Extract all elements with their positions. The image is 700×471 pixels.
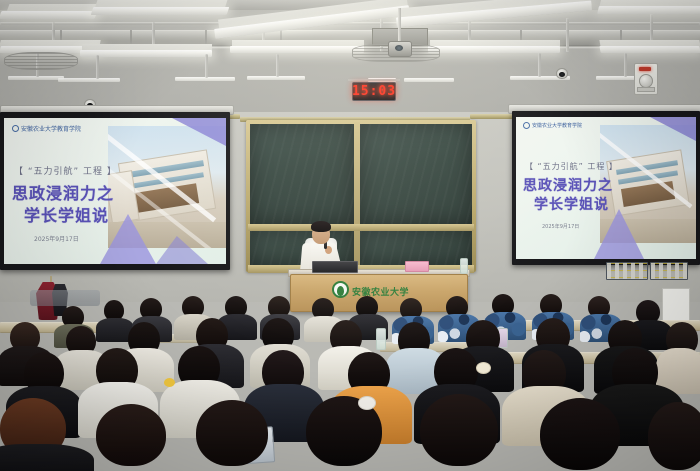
slide-title-line1: 思政浸润力之 <box>12 180 114 204</box>
ceiling-light-bar <box>404 78 454 82</box>
audience-head-foreground <box>420 394 498 466</box>
slide-date: 2025年9月17日 <box>542 223 579 230</box>
ceiling-light <box>597 6 700 14</box>
right-slide: 安徽农业大学教育学院 【 “五力引航” 工程 】 思政浸润力之 学长学姐说 20… <box>516 117 696 259</box>
slide-org-logo: 安徽农业大学教育学院 <box>12 124 81 133</box>
audience-head-foreground <box>648 402 700 470</box>
ceiling-light <box>599 46 700 53</box>
right-projection-screen[interactable]: 安徽农业大学教育学院 【 “五力引航” 工程 】 思政浸润力之 学长学姐说 20… <box>512 111 700 265</box>
ceiling-light <box>80 50 212 57</box>
electrical-switch-panel[interactable] <box>650 262 688 280</box>
chair-row <box>30 290 100 306</box>
control-panel-knob[interactable] <box>639 74 653 88</box>
ceiling-light <box>0 11 97 19</box>
left-projection-screen[interactable]: 安徽农业大学教育学院 【 “五力引航” 工程 】 思政浸润力之 学长学姐说 20… <box>0 112 230 270</box>
ceiling-pipe-hanger <box>566 18 569 52</box>
chalkboard-lower <box>360 231 472 265</box>
left-slide: 安徽农业大学教育学院 【 “五力引航” 工程 】 思政浸润力之 学长学姐说 20… <box>4 118 226 264</box>
hair-tie <box>164 378 175 387</box>
projector-mount-rod <box>398 8 401 42</box>
hair-scrunchie <box>476 362 491 374</box>
slide-org-name: 安徽农业大学教育学院 <box>532 122 582 129</box>
slide-subtitle: 【 “五力引航” 工程 】 <box>525 161 618 172</box>
clock-time: 15:03 <box>352 85 396 98</box>
slide-org-name: 安徽农业大学教育学院 <box>21 124 81 133</box>
hair-scrunchie <box>358 396 376 410</box>
audience-head-foreground <box>540 398 620 470</box>
light-hanger <box>538 53 541 77</box>
ceiling-light-bar <box>58 78 120 82</box>
ceiling-pipe <box>0 22 700 25</box>
wall-notice <box>662 288 690 322</box>
slide-subtitle: 【 “五力引航” 工程 】 <box>14 164 117 177</box>
chalkboard <box>360 124 472 224</box>
light-hanger <box>96 55 99 79</box>
audience-head-foreground <box>96 404 166 466</box>
electrical-switch-panel[interactable] <box>606 262 648 280</box>
clock-mount <box>348 79 400 81</box>
duct-seam <box>205 30 207 44</box>
speaker-hair <box>311 221 331 232</box>
slide-date: 2025年9月17日 <box>34 234 79 243</box>
duct-seam <box>130 30 132 44</box>
water-bottle <box>376 328 386 350</box>
slide-title-line1: 思政浸润力之 <box>523 175 613 195</box>
projector-lens-icon <box>395 45 403 51</box>
ceiling-light <box>230 46 364 53</box>
water-bottle <box>460 258 468 274</box>
light-hanger <box>205 54 208 78</box>
ceiling-light <box>91 7 230 15</box>
university-logo-icon <box>523 122 530 129</box>
light-hanger <box>276 54 279 77</box>
ceiling-light <box>428 46 560 53</box>
slide-title-line2: 学长学姐说 <box>24 202 109 226</box>
university-logo-icon <box>12 125 19 132</box>
pink-name-card <box>405 261 429 272</box>
slide-title-line2: 学长学姐说 <box>534 194 609 214</box>
chalkboard <box>250 124 354 224</box>
podium-laptop[interactable] <box>312 261 358 273</box>
digital-wall-clock: 15:03 <box>352 82 396 101</box>
lecture-hall-photo: 15:03 <box>0 0 700 471</box>
chalkboard-divider <box>354 122 360 270</box>
chalkboard-ledge <box>248 224 474 231</box>
control-panel-led <box>639 67 651 71</box>
control-panel-slot <box>637 87 655 92</box>
slide-org-logo: 安徽农业大学教育学院 <box>523 122 582 129</box>
security-camera <box>556 68 568 79</box>
podium-university-name: 安徽农业大学 <box>352 285 409 298</box>
audience-body-foreground <box>0 444 94 471</box>
ceiling-air-conditioner <box>4 52 78 70</box>
audience-head-foreground <box>196 400 268 466</box>
light-hanger <box>624 53 627 77</box>
university-emblem-icon <box>332 281 349 298</box>
